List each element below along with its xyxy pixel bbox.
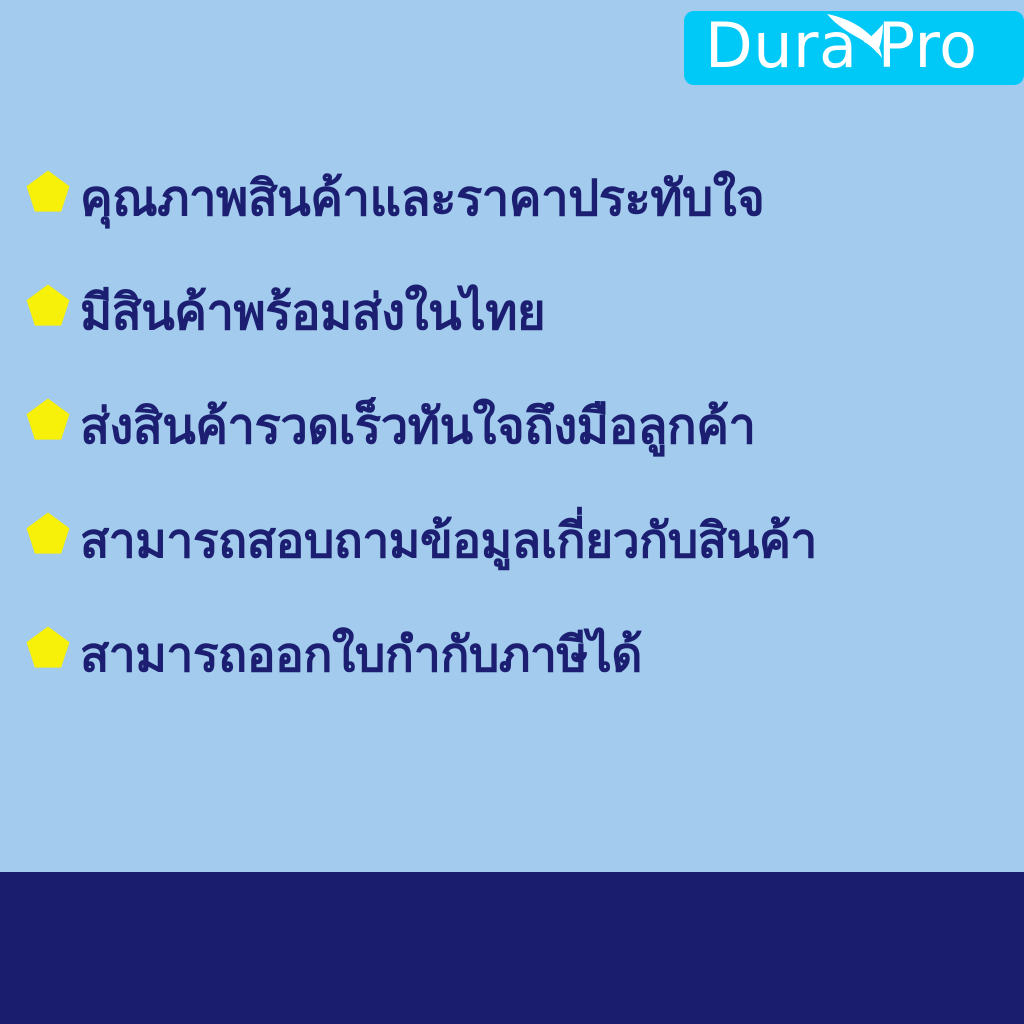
brand-wordmark: Dura Pro	[705, 11, 978, 83]
benefits-list: คุณภาพสินค้าและราคาประทับใจ มีสินค้าพร้อ…	[0, 142, 1024, 712]
pentagon-bullet-icon	[26, 626, 70, 668]
list-item-label: ส่งสินค้ารวดเร็วทันใจถึงมือลูกค้า	[80, 370, 756, 484]
list-item-label: คุณภาพสินค้าและราคาประทับใจ	[80, 142, 764, 256]
promo-banner: Dura Pro คุณภาพสินค้าและราคาประทับใจ มีส…	[0, 0, 1024, 1024]
brand-badge: Dura Pro	[684, 11, 1024, 85]
list-item-label: สามารถออกใบกำกับภาษีได้	[80, 598, 642, 712]
pentagon-bullet-icon	[26, 170, 70, 212]
list-item: มีสินค้าพร้อมส่งในไทย	[0, 256, 1024, 370]
pentagon-bullet-icon	[26, 398, 70, 440]
pentagon-bullet-icon	[26, 284, 70, 326]
pentagon-bullet-icon	[26, 512, 70, 554]
list-item-label: มีสินค้าพร้อมส่งในไทย	[80, 256, 545, 370]
list-item: คุณภาพสินค้าและราคาประทับใจ	[0, 142, 1024, 256]
list-item: สามารถออกใบกำกับภาษีได้	[0, 598, 1024, 712]
list-item-label: สามารถสอบถามข้อมูลเกี่ยวกับสินค้า	[80, 484, 817, 598]
footer-band	[0, 872, 1024, 1024]
list-item: สามารถสอบถามข้อมูลเกี่ยวกับสินค้า	[0, 484, 1024, 598]
list-item: ส่งสินค้ารวดเร็วทันใจถึงมือลูกค้า	[0, 370, 1024, 484]
